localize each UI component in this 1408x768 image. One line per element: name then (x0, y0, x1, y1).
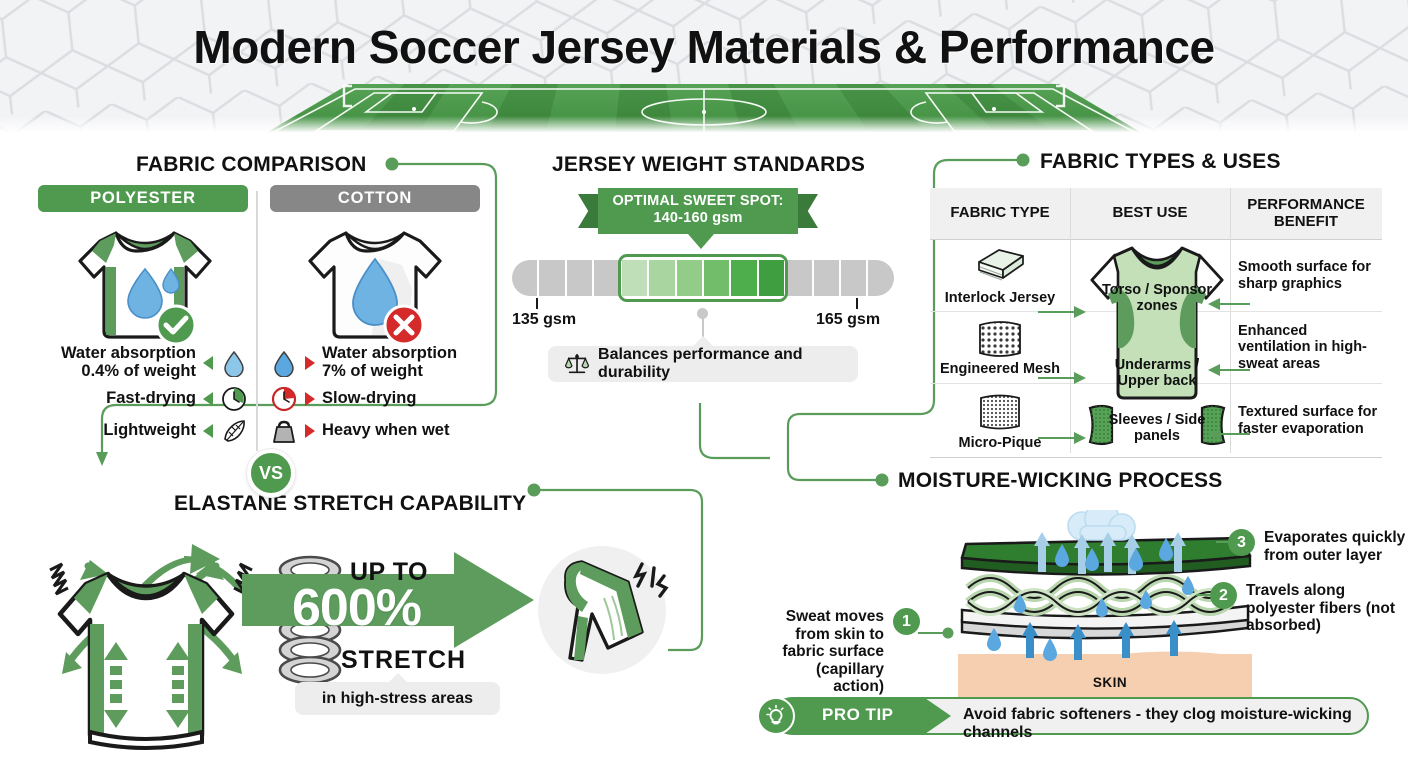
spec-row: Water absorption 0.4% of weight (38, 345, 248, 381)
spec-row: Water absorption 7% of weight (270, 345, 480, 381)
fabric-types-panel: FABRIC TYPE BEST USE PERFORMANCE BENEFIT (930, 188, 1382, 453)
feather-icon (220, 417, 248, 445)
moisture-step-2: 2 Travels along polyester fibers (not ab… (1210, 582, 1396, 635)
optimal-ribbon: OPTIMAL SWEET SPOT: 140-160 gsm (578, 188, 818, 234)
weight-scale-segment (594, 260, 619, 296)
marker-triangle-icon (203, 356, 213, 370)
page-title: Modern Soccer Jersey Materials & Perform… (0, 20, 1408, 74)
scale-tick-max (856, 298, 858, 309)
stretch-word: STRETCH (341, 646, 466, 675)
marker-triangle-icon (305, 356, 315, 370)
marker-triangle-icon (203, 392, 213, 406)
clock-red-icon (270, 385, 298, 413)
pro-tip-bar: PRO TIP Avoid fabric softeners - they cl… (757, 697, 1369, 735)
check-circle-icon (155, 304, 197, 346)
fabric-comparison-panel: POLYESTER Water absorption 0.4% of weigh… (18, 185, 490, 460)
sleeve-stretch-detail-icon (530, 540, 680, 680)
water-drop-icon (220, 349, 248, 377)
cotton-spec-list: Water absorption 7% of weight Slow-dryin… (270, 345, 480, 449)
balance-scale-icon (565, 351, 589, 377)
lightbulb-icon (764, 704, 788, 728)
cotton-label: COTTON (270, 185, 480, 212)
moisture-step-1: Sweat moves from skin to fabric surface … (772, 608, 920, 696)
vs-badge: VS (247, 449, 295, 497)
water-drop-icon (270, 349, 298, 377)
polyester-spec-1-text: Fast-drying (106, 390, 196, 408)
polyester-spec-2-text: Lightweight (103, 422, 196, 440)
table-arrows (930, 188, 1382, 453)
weight-scale-segment (539, 260, 564, 296)
x-circle-icon (383, 304, 425, 346)
ribbon-body: OPTIMAL SWEET SPOT: 140-160 gsm (598, 188, 798, 234)
header-fade (0, 116, 1408, 138)
panel-divider (256, 191, 258, 451)
marker-triangle-icon (305, 424, 315, 438)
section-title-fabric-types: FABRIC TYPES & USES (1040, 150, 1281, 174)
scale-max-label: 165 gsm (816, 311, 880, 329)
polyester-spec-list: Water absorption 0.4% of weight Fast-dry… (38, 345, 248, 449)
stretch-jersey-icon (32, 532, 272, 757)
weight-scale-segment (512, 260, 537, 296)
cotton-spec-2-text: Heavy when wet (322, 422, 449, 440)
spec-row: Lightweight (38, 417, 248, 445)
weight-scale-segment (786, 260, 811, 296)
moisture-step-2-number: 2 (1210, 582, 1237, 609)
moisture-step-2-text: Travels along polyester fibers (not abso… (1246, 582, 1396, 635)
balance-callout-text: Balances performance and durability (598, 346, 858, 382)
moisture-step-3-text: Evaporates quickly from outer layer (1264, 529, 1408, 564)
cotton-column: COTTON Water absorption 7% of weight (270, 185, 480, 212)
polyester-label: POLYESTER (38, 185, 248, 212)
weight-standards-panel: OPTIMAL SWEET SPOT: 140-160 gsm 135 gsm … (500, 188, 910, 403)
balance-callout: Balances performance and durability (548, 346, 858, 382)
polyester-spec-0-text: Water absorption 0.4% of weight (38, 345, 196, 381)
ribbon-line1: OPTIMAL SWEET SPOT: (598, 193, 798, 210)
spec-row: Heavy when wet (270, 417, 480, 445)
cotton-spec-1-text: Slow-drying (322, 390, 416, 408)
pro-tip-text: Avoid fabric softeners - they clog moist… (963, 706, 1369, 742)
infographic-canvas: Modern Soccer Jersey Materials & Perform… (0, 0, 1408, 768)
section-title-moisture: MOISTURE-WICKING PROCESS (898, 469, 1222, 493)
moisture-step-1-text: Sweat moves from skin to fabric surface … (772, 608, 884, 696)
elastane-panel: UP TO 600% STRETCH in high-stress areas (10, 510, 700, 760)
moisture-step-3-number: 3 (1228, 529, 1255, 556)
scale-min-label: 135 gsm (512, 311, 576, 329)
clock-pie-icon (220, 385, 248, 413)
spec-row: Fast-drying (38, 385, 248, 413)
pro-tip-label: PRO TIP (822, 705, 894, 725)
moisture-step-1-number: 1 (893, 608, 920, 635)
polyester-jersey-icon (70, 219, 220, 344)
cotton-spec-0-text: Water absorption 7% of weight (322, 345, 480, 381)
marker-triangle-icon (305, 392, 315, 406)
scale-tick-min (536, 298, 538, 309)
cotton-jersey-icon (300, 219, 450, 344)
weight-scale-segment (868, 260, 893, 296)
weight-scale-segment (841, 260, 866, 296)
section-title-fabric-comparison: FABRIC COMPARISON (136, 153, 367, 177)
sweet-spot-frame (618, 254, 788, 302)
polyester-column: POLYESTER Water absorption 0.4% of weigh… (38, 185, 248, 212)
moisture-step-3: 3 Evaporates quickly from outer layer (1228, 529, 1408, 564)
high-stress-note: in high-stress areas (295, 682, 500, 715)
stretch-value: 600% (292, 578, 421, 638)
section-title-weight-standards: JERSEY WEIGHT STANDARDS (552, 153, 865, 177)
weight-icon (270, 417, 298, 445)
weight-scale-segment (814, 260, 839, 296)
pro-tip-icon-circle (757, 697, 795, 735)
ribbon-notch (688, 234, 714, 249)
spec-row: Slow-drying (270, 385, 480, 413)
ribbon-line2: 140-160 gsm (598, 210, 798, 227)
weight-scale-segment (567, 260, 592, 296)
marker-triangle-icon (203, 424, 213, 438)
header-banner: Modern Soccer Jersey Materials & Perform… (0, 0, 1408, 138)
